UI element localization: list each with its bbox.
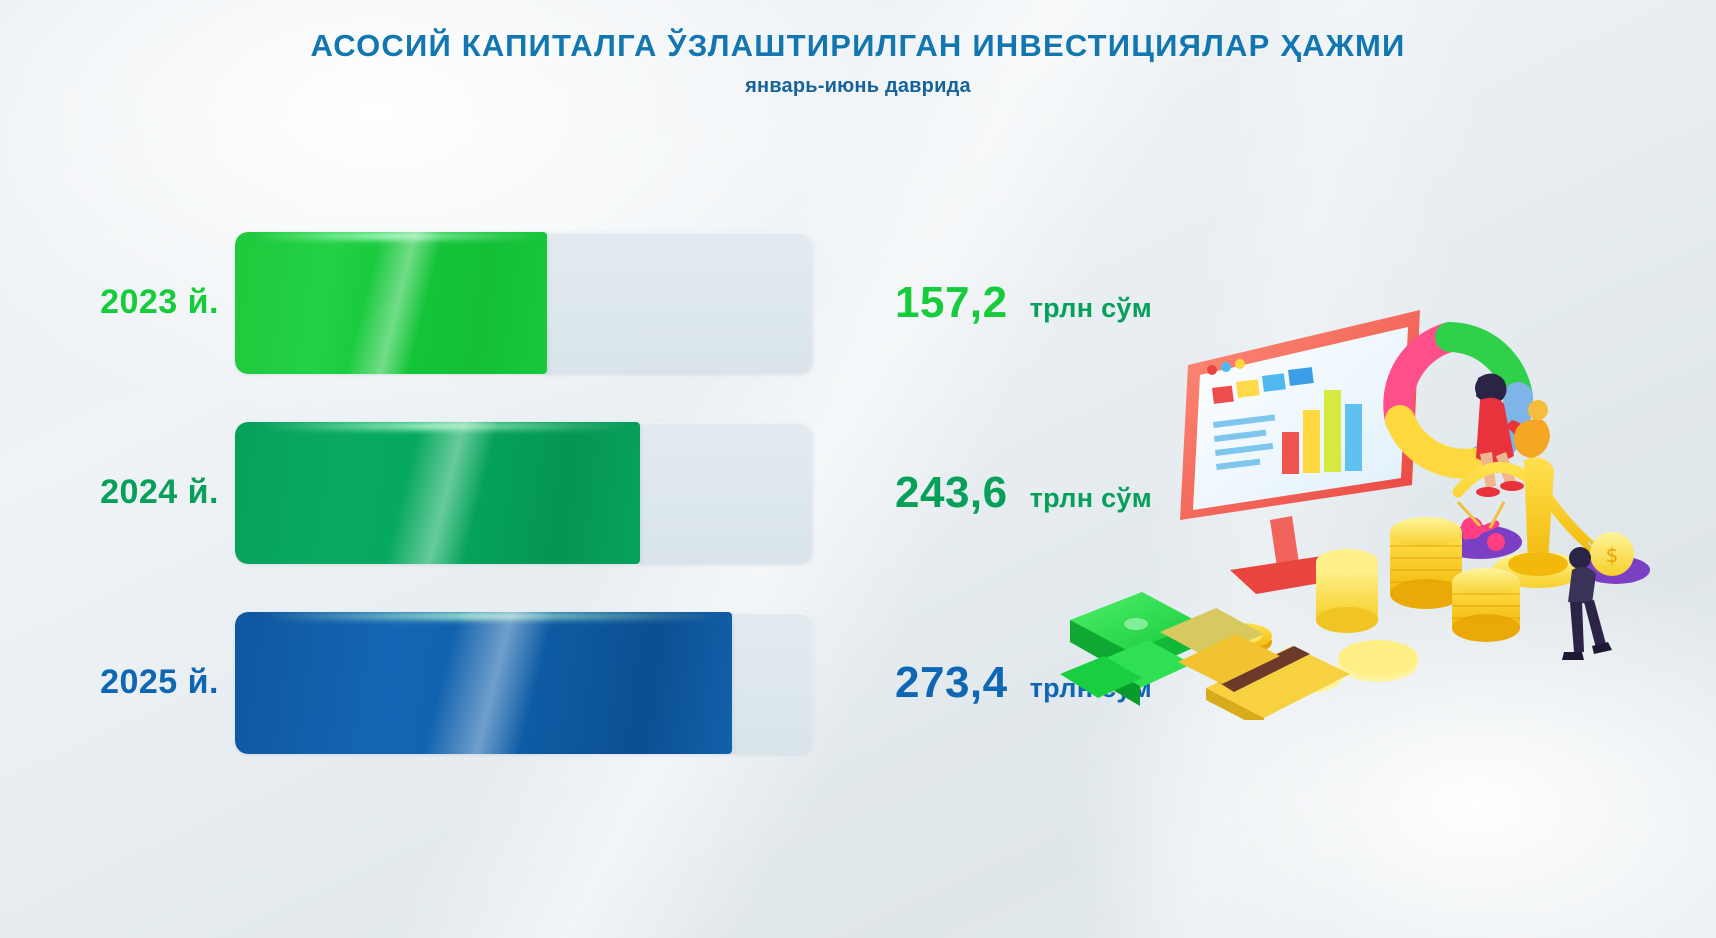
man-carrying-coin-figure: $ [1562,532,1650,660]
row-label-2025: 2025 й. [0,663,235,702]
row-label-2024: 2024 й. [0,473,235,512]
value-2023: 157,2 [895,278,1008,328]
bar-track-2024 [235,422,813,564]
chart-row-2025: 2025 й. 273,4 трлн сўм [0,610,1180,800]
page-title: АСОСИЙ КАПИТАЛГА ЎЗЛАШТИРИЛГАН ИНВЕСТИЦИ… [0,28,1716,64]
svg-text:$: $ [1606,543,1619,567]
value-2024: 243,6 [895,468,1008,518]
page-subtitle: январь-июнь даврида [0,75,1716,98]
desktop-monitor-icon [1180,310,1420,594]
investment-finance-illustration: $ [1060,270,1660,720]
bar-chart: 2023 й. 157,2 трлн сўм 2024 й. 243,6 трл… [0,230,1180,800]
value-2025: 273,4 [895,658,1008,708]
bar-fill-2023 [235,232,547,374]
chart-row-2023: 2023 й. 157,2 трлн сўм [0,230,1180,420]
bar-track-2025 [235,612,813,754]
chart-row-2024: 2024 й. 243,6 трлн сўм [0,420,1180,610]
header: АСОСИЙ КАПИТАЛГА ЎЗЛАШТИРИЛГАН ИНВЕСТИЦИ… [0,28,1716,98]
bar-fill-2024 [235,422,640,564]
bar-track-2023 [235,232,813,374]
row-label-2023: 2023 й. [0,283,235,322]
bar-fill-2025 [235,612,732,754]
